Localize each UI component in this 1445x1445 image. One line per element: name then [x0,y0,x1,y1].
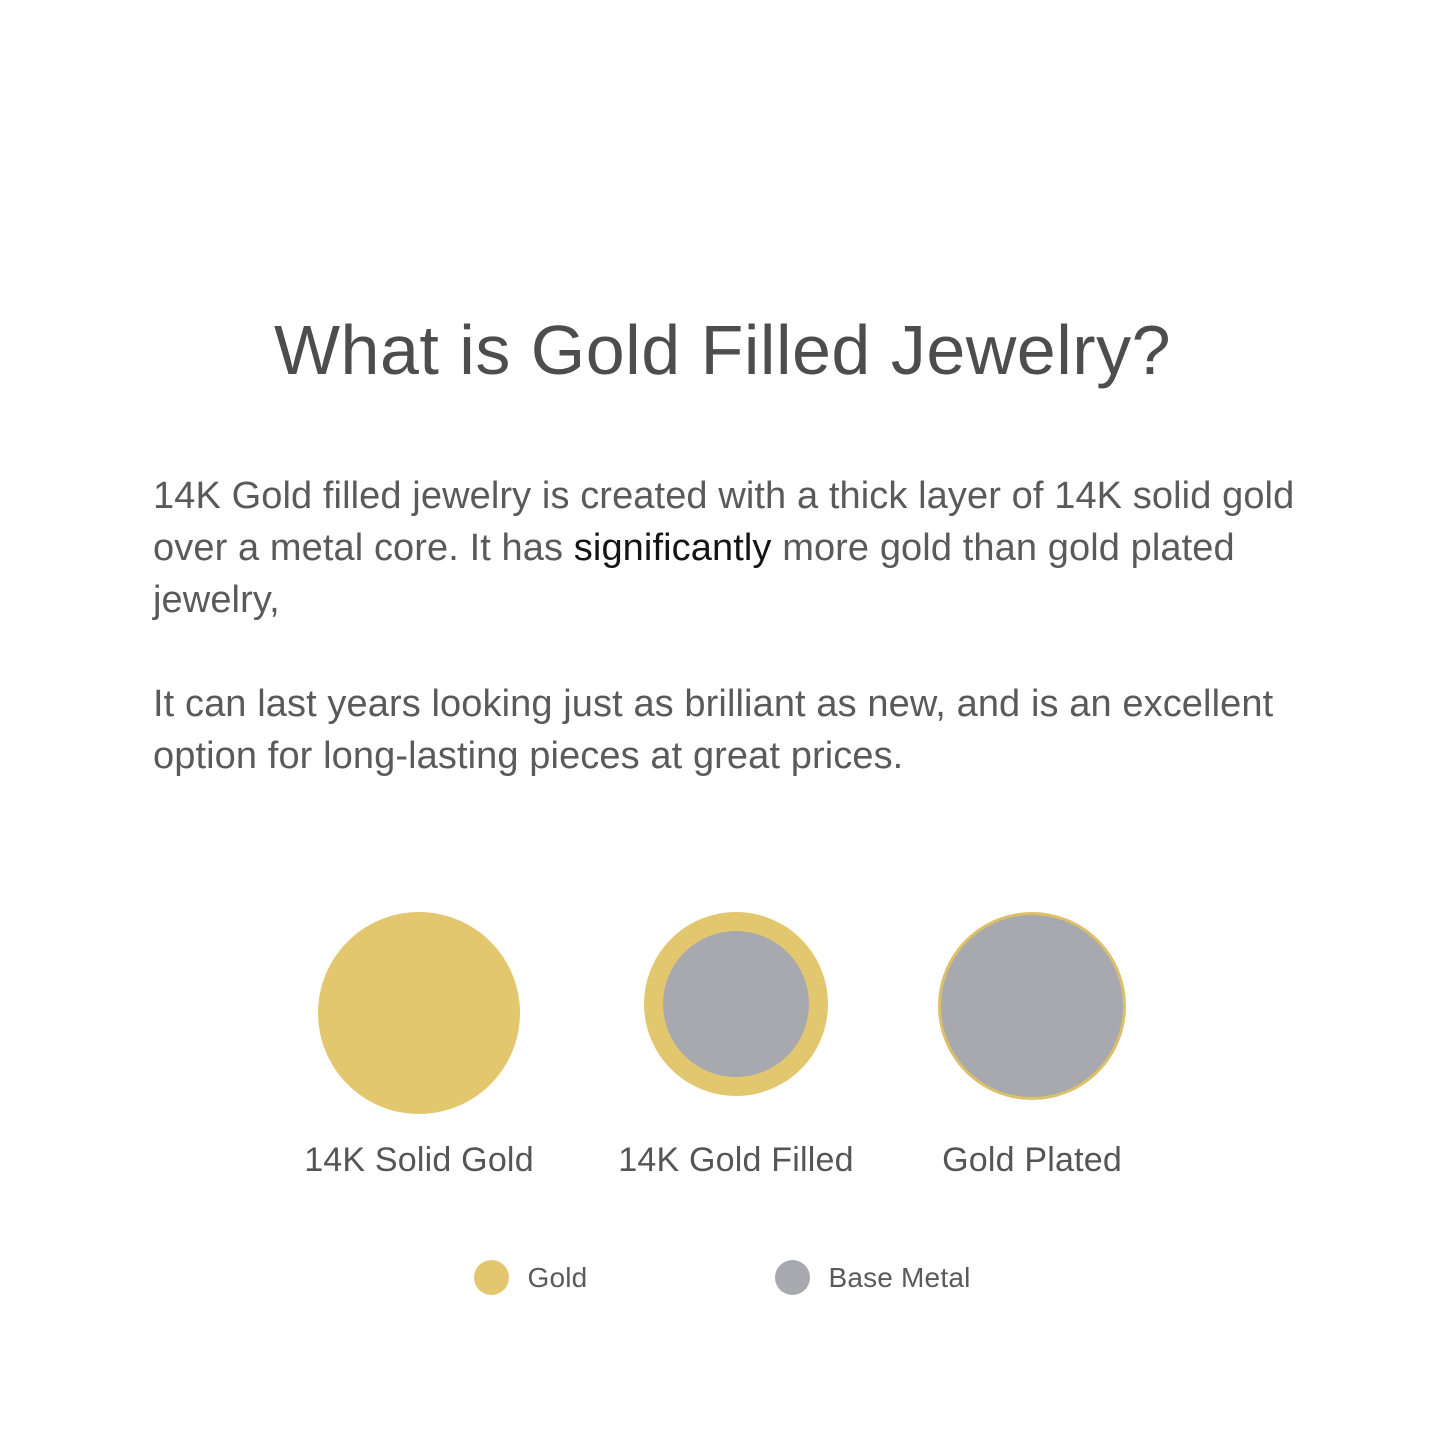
gold-plated-circle-icon [938,912,1126,1100]
page-title: What is Gold Filled Jewelry? [0,315,1445,385]
paragraph-1: 14K Gold filled jewelry is created with … [153,470,1313,626]
diagram-item-gold-plated: Gold Plated [902,912,1162,1122]
body-copy: 14K Gold filled jewelry is created with … [153,470,1313,782]
legend-item-base-metal: Base Metal [775,1260,970,1295]
gold-filled-circle-icon [644,912,828,1096]
paragraph-2: It can last years looking just as brilli… [153,678,1313,782]
base-metal-dot-icon [775,1260,810,1295]
diagram-item-solid-gold: 14K Solid Gold [289,912,549,1122]
infographic-page: What is Gold Filled Jewelry? 14K Gold fi… [0,0,1445,1445]
metal-comparison-diagram: 14K Solid Gold 14K Gold Filled Gold Plat… [0,912,1445,1122]
gold-dot-icon [474,1260,509,1295]
circle-label-solid-gold: 14K Solid Gold [304,1141,534,1180]
legend-item-gold: Gold [474,1260,587,1295]
paragraph-1-emphasis: significantly [574,527,772,569]
circle-label-gold-plated: Gold Plated [942,1141,1122,1180]
legend-label-gold: Gold [527,1262,587,1294]
solid-gold-circle-icon [318,912,520,1114]
diagram-item-gold-filled: 14K Gold Filled [606,912,866,1122]
diagram-legend: Gold Base Metal [0,1260,1445,1295]
circle-label-gold-filled: 14K Gold Filled [618,1141,853,1180]
legend-label-base-metal: Base Metal [828,1262,970,1294]
